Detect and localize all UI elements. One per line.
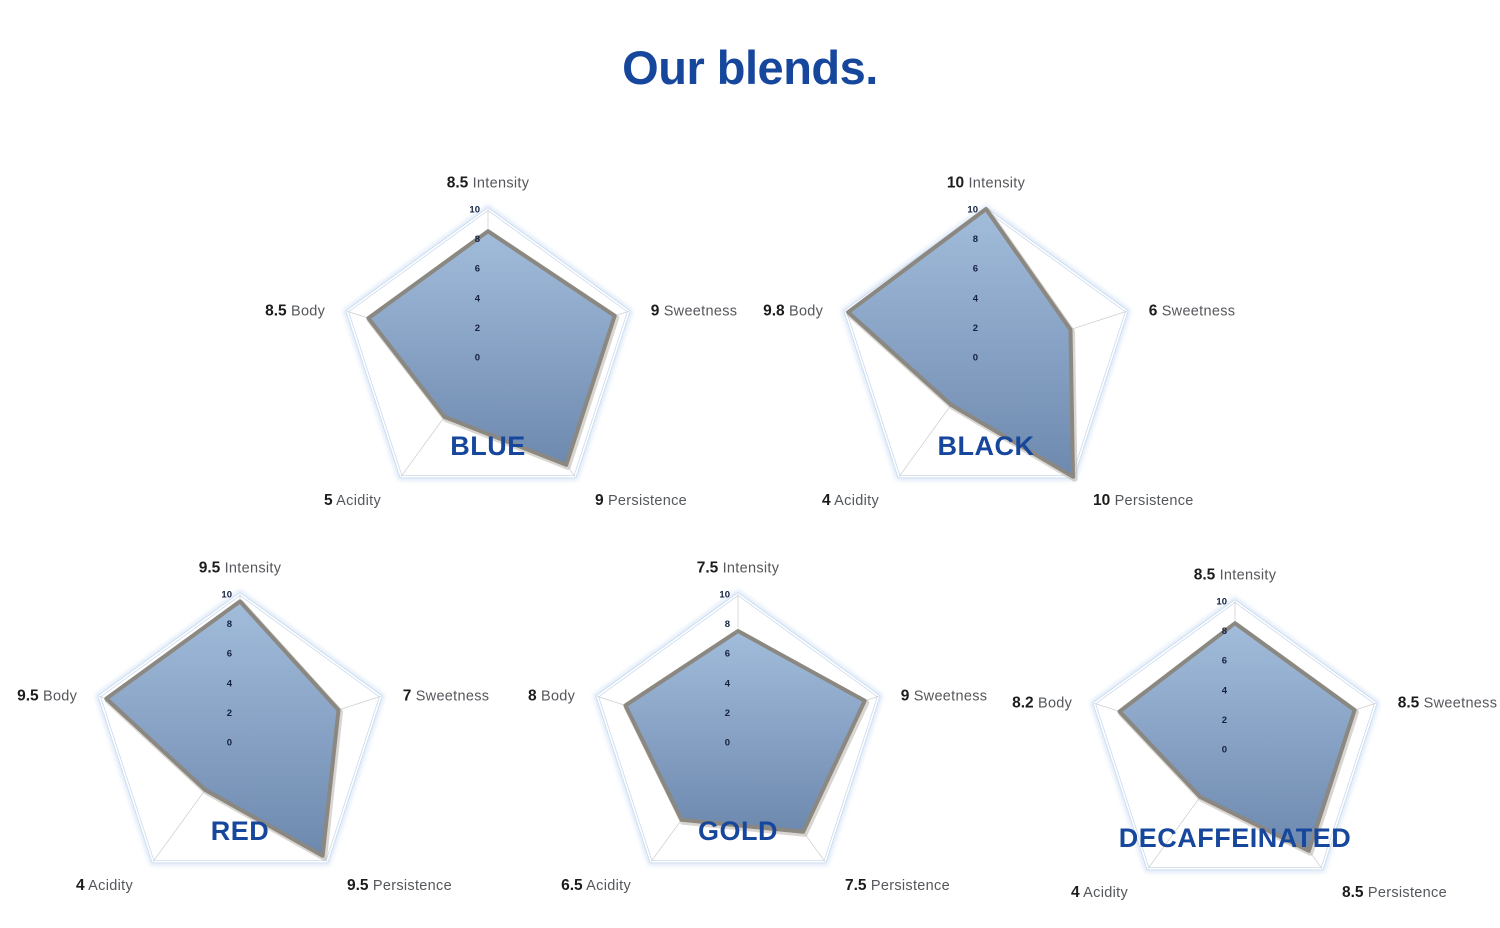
tick-label: 4	[973, 293, 979, 304]
tick-label: 6	[1222, 656, 1227, 667]
blend-title: GOLD	[488, 816, 988, 847]
axis-value: 8.2	[1012, 695, 1034, 712]
axis-name: Intensity	[718, 561, 779, 577]
tick-label: 10	[469, 205, 480, 216]
axis-label-body: 9.5 Body	[17, 689, 77, 705]
axis-value: 9.5	[17, 688, 39, 705]
axis-name: Intensity	[468, 176, 529, 192]
axis-value: 8.5	[447, 175, 469, 192]
axis-value: 9	[651, 303, 660, 320]
tick-label: 10	[719, 590, 730, 601]
axis-value: 6	[1149, 303, 1158, 320]
axis-name: Persistence	[1364, 885, 1447, 901]
tick-label: 0	[973, 353, 978, 364]
axis-name: Body	[1034, 696, 1073, 712]
axis-name: Sweetness	[909, 689, 987, 705]
blend-title: BLUE	[238, 431, 738, 462]
tick-label: 8	[725, 619, 730, 630]
tick-label: 4	[475, 293, 481, 304]
radar-chart-gold: 10864207.5 Intensity9 Sweetness7.5 Persi…	[488, 484, 988, 884]
axis-label-intensity: 7.5 Intensity	[697, 561, 780, 577]
axis-value: 8.5	[1398, 695, 1420, 712]
tick-label: 8	[227, 619, 232, 630]
axis-name: Sweetness	[659, 304, 737, 320]
tick-label: 4	[227, 678, 233, 689]
axis-label-body: 8.2 Body	[1012, 696, 1072, 712]
axis-label-persistence: 7.5 Persistence	[845, 878, 950, 894]
tick-label: 8	[973, 234, 978, 245]
tick-label: 10	[1216, 597, 1227, 608]
tick-label: 4	[725, 678, 731, 689]
axis-name: Sweetness	[1419, 696, 1497, 712]
axis-value: 4	[76, 877, 85, 894]
page-title: Our blends.	[0, 0, 1500, 91]
blend-title: BLACK	[736, 431, 1236, 462]
axis-label-intensity: 9.5 Intensity	[199, 561, 282, 577]
axis-name: Acidity	[85, 878, 133, 894]
tick-label: 6	[227, 649, 232, 660]
axis-value: 6.5	[561, 877, 583, 894]
axis-label-intensity: 10 Intensity	[947, 176, 1025, 192]
axis-value: 7.5	[845, 877, 867, 894]
axis-name: Acidity	[1080, 885, 1128, 901]
tick-label: 10	[221, 590, 232, 601]
axis-label-sweetness: 9 Sweetness	[651, 304, 738, 320]
axis-value: 8	[528, 688, 537, 705]
radar-chart-decaffeinated: 10864208.5 Intensity8.5 Sweetness8.5 Per…	[985, 491, 1485, 891]
tick-label: 0	[227, 738, 232, 749]
axis-label-acidity: 4 Acidity	[76, 878, 133, 894]
tick-label: 10	[967, 205, 978, 216]
axis-value: 9	[901, 688, 910, 705]
axis-value: 7	[403, 688, 412, 705]
axis-label-sweetness: 6 Sweetness	[1149, 304, 1236, 320]
axis-name: Intensity	[964, 176, 1025, 192]
radar-chart-red: 10864209.5 Intensity7 Sweetness9.5 Persi…	[0, 484, 490, 884]
axis-name: Persistence	[867, 878, 950, 894]
axis-value: 8.5	[1194, 567, 1216, 584]
charts-grid: 10864208.5 Intensity9 Sweetness9 Persist…	[0, 91, 1500, 891]
tick-label: 0	[725, 738, 730, 749]
axis-name: Acidity	[583, 878, 631, 894]
axis-label-acidity: 4 Acidity	[1071, 885, 1128, 901]
tick-label: 2	[227, 708, 232, 719]
tick-label: 6	[725, 649, 730, 660]
axis-label-body: 9.8 Body	[763, 304, 823, 320]
axis-name: Body	[785, 304, 824, 320]
axis-label-acidity: 6.5 Acidity	[561, 878, 631, 894]
tick-label: 2	[1222, 715, 1227, 726]
tick-label: 8	[1222, 626, 1227, 637]
tick-label: 0	[475, 353, 480, 364]
axis-value: 4	[1071, 884, 1080, 901]
axis-value: 8.5	[1342, 884, 1364, 901]
axis-name: Intensity	[1215, 568, 1276, 584]
radar-chart-blue: 10864208.5 Intensity9 Sweetness9 Persist…	[238, 99, 738, 499]
radar-chart-black: 108642010 Intensity6 Sweetness10 Persist…	[736, 99, 1236, 499]
tick-label: 2	[725, 708, 730, 719]
tick-label: 6	[973, 264, 978, 275]
tick-label: 8	[475, 234, 480, 245]
axis-name: Intensity	[220, 561, 281, 577]
axis-value: 10	[947, 175, 964, 192]
axis-label-body: 8 Body	[528, 689, 575, 705]
axis-label-intensity: 8.5 Intensity	[447, 176, 530, 192]
axis-name: Body	[39, 689, 78, 705]
axis-value: 7.5	[697, 560, 719, 577]
axis-label-persistence: 8.5 Persistence	[1342, 885, 1447, 901]
axis-label-body: 8.5 Body	[265, 304, 325, 320]
tick-label: 2	[973, 323, 978, 334]
axis-name: Body	[537, 689, 576, 705]
axis-label-sweetness: 9 Sweetness	[901, 689, 988, 705]
axis-value: 9.5	[347, 877, 369, 894]
axis-label-sweetness: 7 Sweetness	[403, 689, 490, 705]
axis-name: Persistence	[369, 878, 452, 894]
axis-label-sweetness: 8.5 Sweetness	[1398, 696, 1498, 712]
tick-label: 6	[475, 264, 480, 275]
axis-value: 8.5	[265, 303, 287, 320]
tick-label: 4	[1222, 685, 1228, 696]
axis-label-persistence: 9.5 Persistence	[347, 878, 452, 894]
tick-label: 0	[1222, 745, 1227, 756]
axis-name: Body	[287, 304, 326, 320]
axis-name: Sweetness	[411, 689, 489, 705]
tick-label: 2	[475, 323, 480, 334]
axis-value: 9.5	[199, 560, 221, 577]
axis-value: 9.8	[763, 303, 785, 320]
blend-title: RED	[0, 816, 490, 847]
axis-label-intensity: 8.5 Intensity	[1194, 568, 1277, 584]
axis-name: Sweetness	[1157, 304, 1235, 320]
blend-title: DECAFFEINATED	[985, 823, 1485, 854]
